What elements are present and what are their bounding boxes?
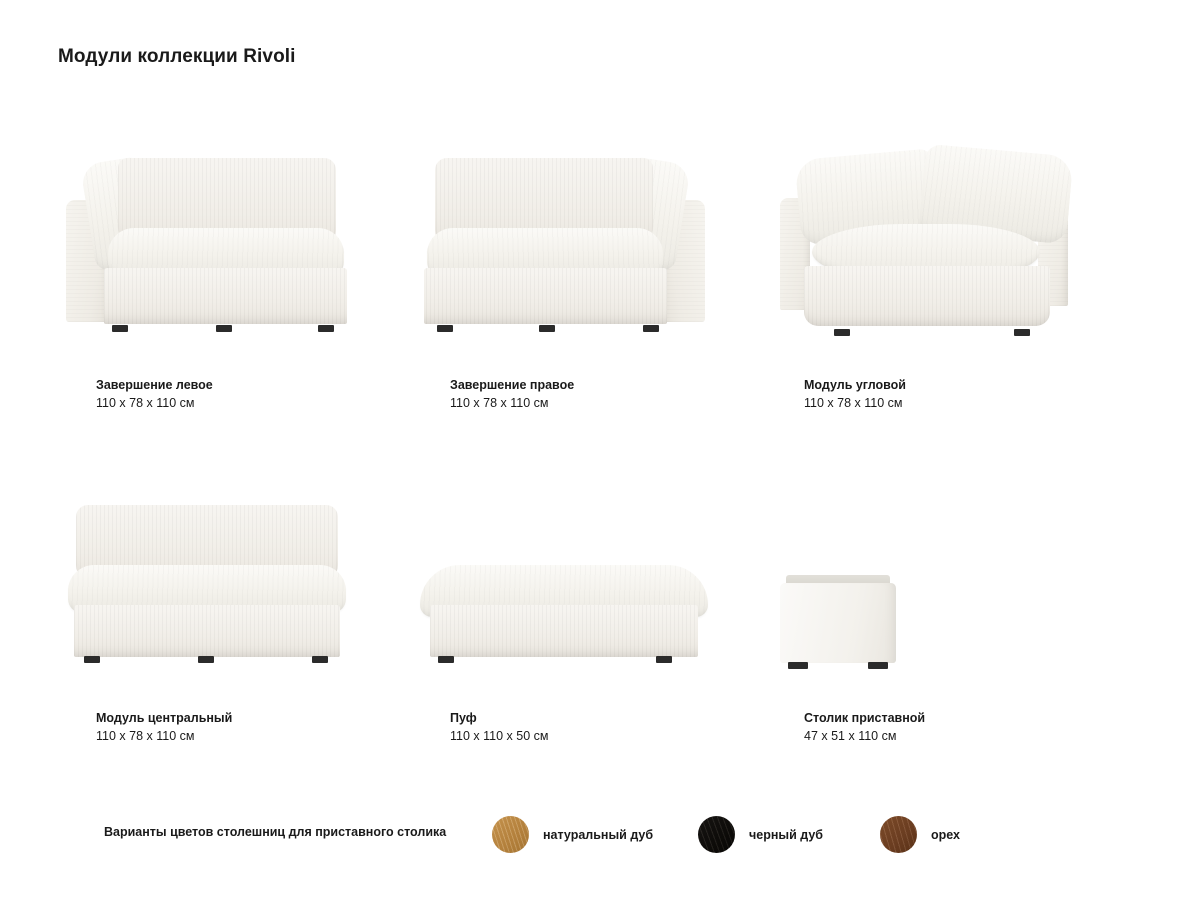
module-card-side-table[interactable]: Столик приставной 47 x 51 x 110 см [766,453,1121,786]
module-card-right-end[interactable]: Завершение правое 110 x 78 x 110 см [412,120,767,453]
module-name: Завершение левое [96,376,213,394]
module-card-ottoman[interactable]: Пуф 110 x 110 x 50 см [412,453,767,786]
side-table-image [766,453,1121,698]
modules-row-1: Завершение левое 110 x 78 x 110 см [0,120,1200,453]
module-caption: Завершение правое 110 x 78 x 110 см [450,376,574,412]
swatch-label: черный дуб [749,828,823,842]
module-caption: Завершение левое 110 x 78 x 110 см [96,376,213,412]
swatch-option-walnut[interactable]: орех [880,816,960,853]
module-caption: Столик приставной 47 x 51 x 110 см [804,709,925,745]
module-name: Модуль угловой [804,376,906,394]
module-card-left-end[interactable]: Завершение левое 110 x 78 x 110 см [58,120,413,453]
module-dimensions: 110 x 78 x 110 см [804,394,906,412]
sofa-left-end-module-image [58,120,413,365]
sofa-corner-module-image [766,120,1121,365]
page-title: Модули коллекции Rivoli [58,46,296,68]
module-dimensions: 110 x 78 x 110 см [450,394,574,412]
module-caption: Пуф 110 x 110 x 50 см [450,709,548,745]
swatch-label: натуральный дуб [543,828,653,842]
module-caption: Модуль угловой 110 x 78 x 110 см [804,376,906,412]
swatch-option-black-oak[interactable]: черный дуб [698,816,823,853]
module-name: Модуль центральный [96,709,232,727]
swatch-label: орех [931,828,960,842]
module-name: Столик приставной [804,709,925,727]
module-dimensions: 110 x 110 x 50 см [450,727,548,745]
catalog-page: Модули коллекции Rivoli [0,0,1200,900]
module-dimensions: 110 x 78 x 110 см [96,394,213,412]
module-caption: Модуль центральный 110 x 78 x 110 см [96,709,232,745]
module-name: Завершение правое [450,376,574,394]
black-oak-swatch-icon[interactable] [698,816,735,853]
swatch-option-natural-oak[interactable]: натуральный дуб [492,816,653,853]
sofa-right-end-module-image [412,120,767,365]
sofa-center-module-image [58,453,413,698]
module-dimensions: 47 x 51 x 110 см [804,727,925,745]
module-card-corner[interactable]: Модуль угловой 110 x 78 x 110 см [766,120,1121,453]
module-card-center[interactable]: Модуль центральный 110 x 78 x 110 см [58,453,413,786]
modules-row-2: Модуль центральный 110 x 78 x 110 см Пуф [0,453,1200,786]
color-options-legend: Варианты цветов столешниц для приставног… [0,808,1200,862]
walnut-swatch-icon[interactable] [880,816,917,853]
module-dimensions: 110 x 78 x 110 см [96,727,232,745]
modules-grid: Завершение левое 110 x 78 x 110 см [0,120,1200,786]
natural-oak-swatch-icon[interactable] [492,816,529,853]
legend-label: Варианты цветов столешниц для приставног… [104,825,446,839]
ottoman-image [412,453,767,698]
module-name: Пуф [450,709,548,727]
